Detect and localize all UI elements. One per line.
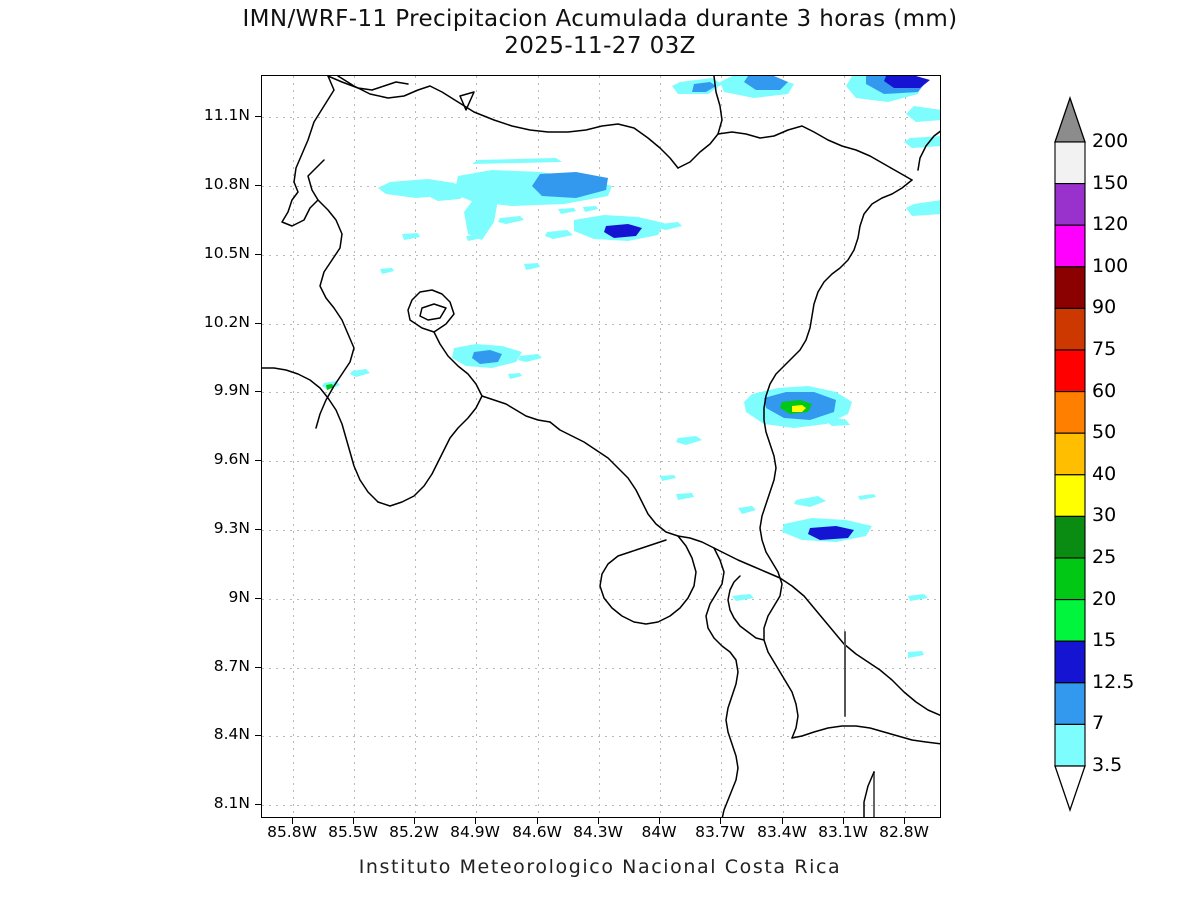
y-tick-label-10: 8.1N — [0, 794, 250, 812]
colorbar-band-12 — [1055, 641, 1085, 683]
colorbar-label-7: 7 — [1092, 712, 1104, 734]
y-tick-label-1: 10.8N — [0, 175, 250, 193]
colorbar-over-arrow — [1055, 98, 1085, 142]
precipitation-shading — [322, 76, 940, 658]
colorbar-label-50: 50 — [1092, 421, 1116, 443]
y-tick-1 — [255, 185, 261, 186]
colorbar-band-3 — [1055, 267, 1085, 309]
map-overlay — [262, 76, 940, 817]
colorbar-swatches — [1053, 96, 1087, 812]
colorbar-label-150: 150 — [1092, 172, 1128, 194]
colorbar-band-14 — [1055, 724, 1085, 766]
colorbar-band-6 — [1055, 392, 1085, 434]
y-tick-9 — [255, 735, 261, 736]
y-tick-8 — [255, 667, 261, 668]
colorbar-label-12.5: 12.5 — [1092, 671, 1134, 693]
y-tick-label-4: 9.9N — [0, 381, 250, 399]
colorbar-band-10 — [1055, 558, 1085, 600]
colorbar-band-5 — [1055, 350, 1085, 392]
y-tick-label-9: 8.4N — [0, 725, 250, 743]
colorbar-label-60: 60 — [1092, 380, 1116, 402]
colorbar-band-11 — [1055, 600, 1085, 642]
footer-credit: Instituto Meteorologico Nacional Costa R… — [0, 856, 1200, 878]
map-canvas — [262, 76, 940, 817]
colorbar-label-120: 120 — [1092, 213, 1128, 235]
y-tick-label-7: 9N — [0, 588, 250, 606]
colorbar-label-20: 20 — [1092, 588, 1116, 610]
y-tick-label-8: 8.7N — [0, 657, 250, 675]
colorbar-band-7 — [1055, 433, 1085, 475]
y-tick-label-2: 10.5N — [0, 244, 250, 262]
colorbar-label-15: 15 — [1092, 629, 1116, 651]
colorbar-band-4 — [1055, 308, 1085, 350]
colorbar-label-3.5: 3.5 — [1092, 754, 1122, 776]
y-tick-3 — [255, 323, 261, 324]
weather-map-page: IMN/WRF-11 Precipitacion Acumulada duran… — [0, 0, 1200, 900]
map-plot-area — [261, 75, 941, 818]
y-tick-5 — [255, 460, 261, 461]
y-tick-2 — [255, 254, 261, 255]
page-title: IMN/WRF-11 Precipitacion Acumulada duran… — [0, 6, 1200, 32]
y-tick-label-3: 10.2N — [0, 313, 250, 331]
page-subtitle: 2025-11-27 03Z — [0, 33, 1200, 59]
y-tick-label-6: 9.3N — [0, 519, 250, 537]
y-tick-6 — [255, 529, 261, 530]
colorbar-band-9 — [1055, 516, 1085, 558]
y-tick-10 — [255, 804, 261, 805]
y-tick-label-5: 9.6N — [0, 450, 250, 468]
colorbar-label-30: 30 — [1092, 504, 1116, 526]
colorbar-label-25: 25 — [1092, 546, 1116, 568]
colorbar-label-90: 90 — [1092, 296, 1116, 318]
y-tick-0 — [255, 116, 261, 117]
colorbar-band-13 — [1055, 683, 1085, 725]
colorbar-band-2 — [1055, 225, 1085, 267]
colorbar-label-100: 100 — [1092, 255, 1128, 277]
y-tick-label-0: 11.1N — [0, 106, 250, 124]
x-tick-label-10: 82.8W — [859, 823, 949, 841]
colorbar-label-200: 200 — [1092, 130, 1128, 152]
colorbar-label-40: 40 — [1092, 463, 1116, 485]
colorbar-band-1 — [1055, 184, 1085, 226]
colorbar — [1053, 96, 1087, 812]
y-tick-4 — [255, 391, 261, 392]
y-tick-7 — [255, 598, 261, 599]
colorbar-under-arrow — [1055, 766, 1085, 810]
colorbar-band-0 — [1055, 142, 1085, 184]
colorbar-band-8 — [1055, 475, 1085, 517]
colorbar-label-75: 75 — [1092, 338, 1116, 360]
